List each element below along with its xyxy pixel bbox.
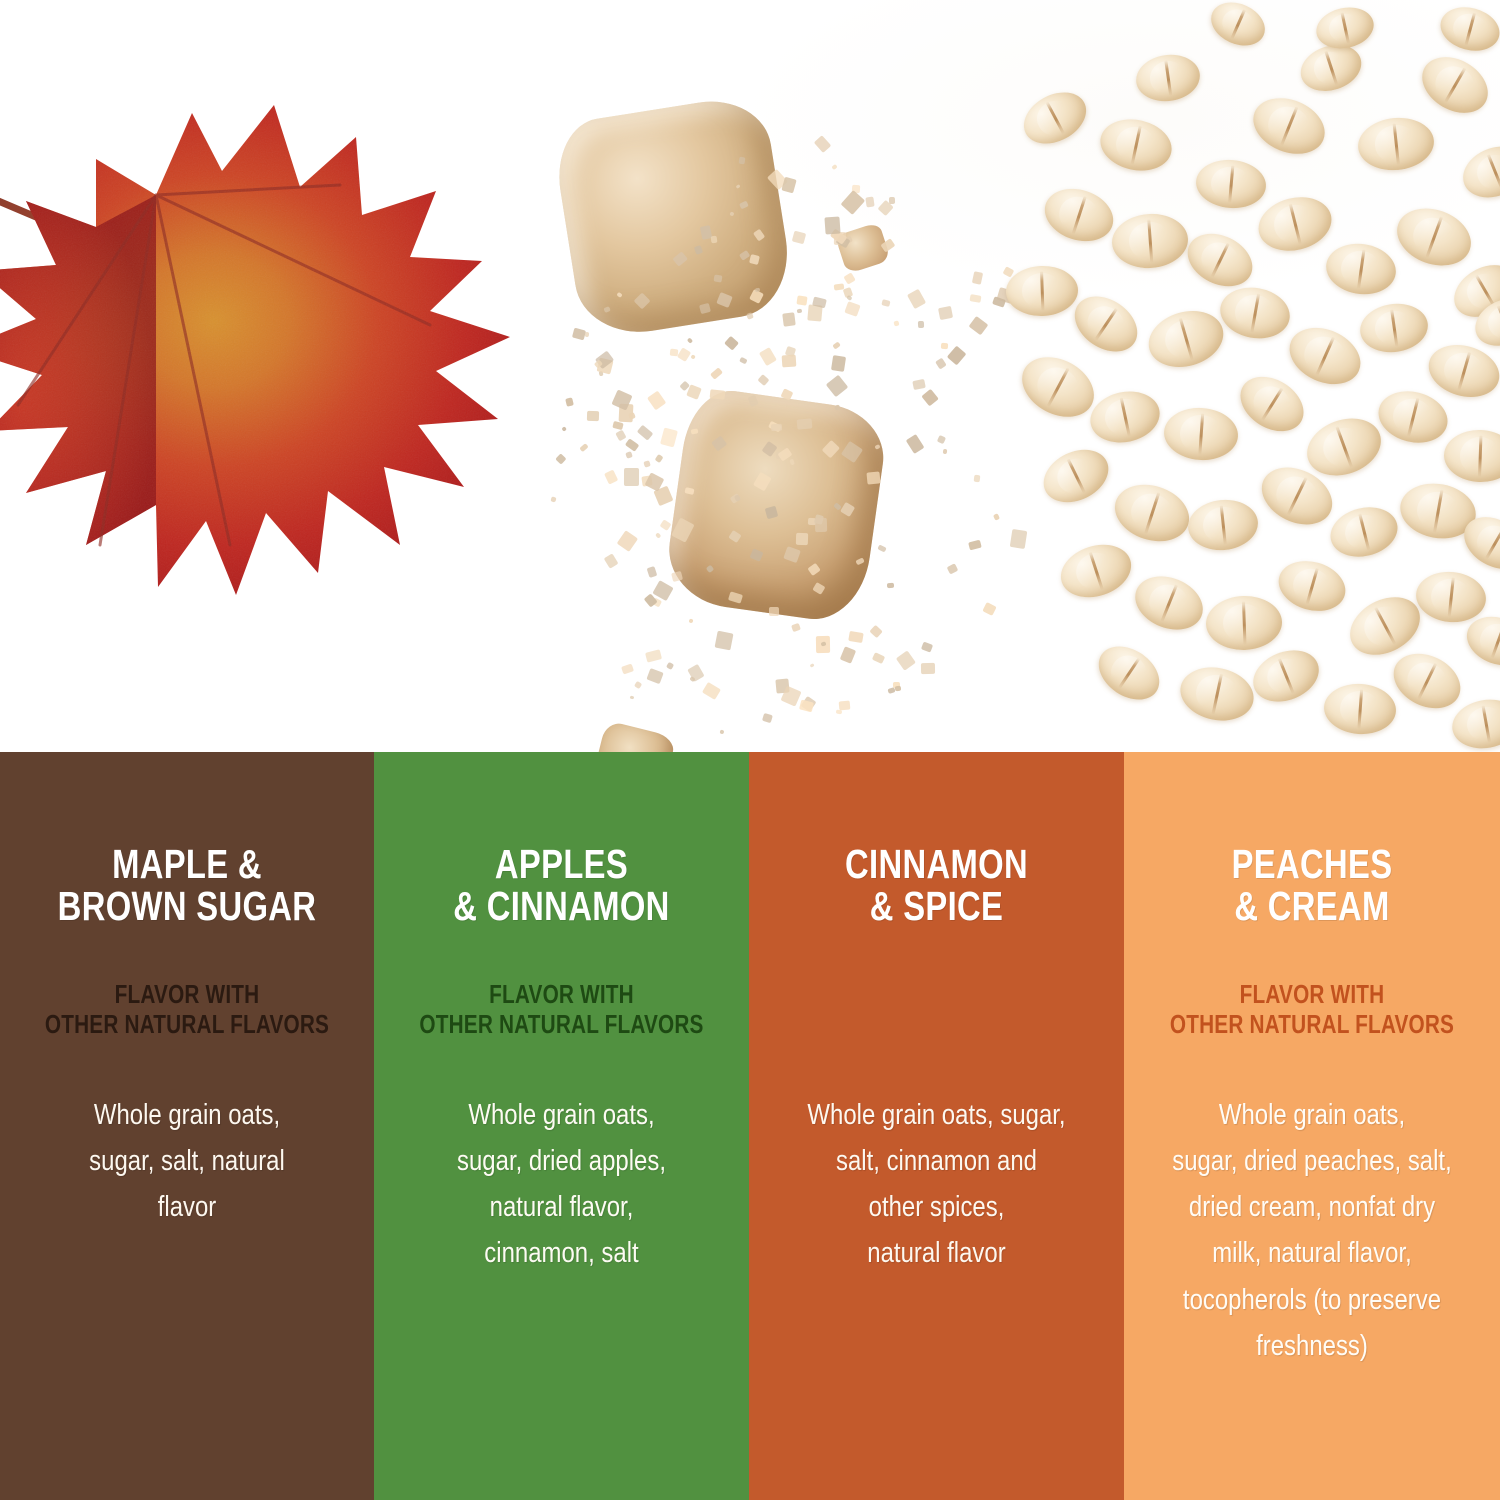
oat-flake bbox=[1175, 661, 1258, 727]
oat-flake bbox=[1385, 643, 1470, 719]
sugar-crystal bbox=[659, 519, 671, 531]
sugar-crystal bbox=[941, 343, 949, 350]
sugar-crystal bbox=[587, 411, 599, 421]
flavor-title: MAPLE & BROWN SUGAR bbox=[49, 844, 326, 928]
sugar-crystal bbox=[921, 641, 933, 652]
flavor-panel-peaches-cream[interactable]: PEACHES & CREAM FLAVOR WITH OTHER NATURA… bbox=[1124, 752, 1500, 1500]
oat-flake bbox=[1357, 300, 1431, 357]
sugar-crystal bbox=[724, 336, 739, 351]
sugar-crystal bbox=[799, 700, 815, 713]
oat-flake bbox=[1322, 682, 1397, 737]
sugar-crystal bbox=[645, 650, 661, 663]
sugar-crystal bbox=[943, 449, 948, 455]
oat-flake bbox=[1054, 536, 1138, 606]
sugar-crystal bbox=[937, 434, 946, 443]
sugar-crystal bbox=[814, 518, 826, 532]
oat-flake bbox=[1325, 500, 1403, 563]
sugar-crystal bbox=[791, 623, 801, 632]
sugar-crystal bbox=[624, 438, 639, 452]
flavor-subtitle: FLAVOR WITH OTHER NATURAL FLAVORS bbox=[44, 980, 330, 1039]
brown-sugar-chunk-top bbox=[550, 93, 796, 342]
sugar-crystal bbox=[838, 701, 850, 711]
oat-flake bbox=[1455, 137, 1500, 206]
oat-flake bbox=[1179, 224, 1261, 297]
sugar-crystal bbox=[720, 730, 725, 734]
sugar-crystal bbox=[769, 607, 779, 616]
sugar-crystal bbox=[831, 164, 837, 170]
sugar-crystal bbox=[654, 454, 663, 463]
sugar-crystal bbox=[935, 358, 947, 370]
sugar-crystal bbox=[643, 460, 650, 467]
sugar-crystal bbox=[840, 647, 856, 664]
oat-flake bbox=[1389, 199, 1479, 276]
oat-flake bbox=[1110, 211, 1190, 270]
sugar-crystal bbox=[688, 618, 693, 623]
sugar-crystal bbox=[710, 236, 717, 243]
oat-flake bbox=[1436, 1, 1500, 57]
sugar-crystal bbox=[825, 217, 841, 235]
sugar-crystal bbox=[947, 346, 967, 366]
sugar-crystal bbox=[982, 602, 997, 616]
sugar-crystal bbox=[972, 272, 984, 286]
sugar-crystal bbox=[872, 652, 885, 664]
sugar-crystal bbox=[894, 320, 900, 326]
sugar-crystal bbox=[865, 196, 874, 207]
brown-sugar-chunk-bottom bbox=[662, 385, 890, 626]
sugar-crystal bbox=[826, 374, 848, 396]
sugar-crystal bbox=[621, 664, 634, 675]
sugar-crystal bbox=[796, 533, 809, 545]
ingredients-text: Whole grain oats, sugar, dried peaches, … bbox=[1171, 1092, 1453, 1369]
oat-flake bbox=[1096, 113, 1177, 177]
oat-flake bbox=[1035, 440, 1117, 513]
flavor-panel-apples-cinnamon[interactable]: APPLES & CINNAMON FLAVOR WITH OTHER NATU… bbox=[374, 752, 749, 1500]
ingredients-text: Whole grain oats, sugar, dried apples, n… bbox=[421, 1092, 702, 1277]
oat-flake bbox=[1355, 114, 1436, 174]
sugar-crystal bbox=[968, 540, 982, 551]
sugar-crystal bbox=[831, 355, 846, 372]
sugar-crystal bbox=[759, 347, 777, 366]
sugar-crystal bbox=[781, 355, 795, 368]
sugar-crystal bbox=[762, 713, 773, 723]
flavor-title: APPLES & CINNAMON bbox=[423, 844, 701, 928]
oat-flake bbox=[1245, 641, 1326, 711]
oat-flake bbox=[1281, 317, 1370, 395]
sugar-crystal bbox=[810, 663, 815, 667]
sugar-crystal bbox=[660, 427, 678, 447]
sugar-crystal bbox=[677, 347, 691, 362]
sugar-crystal bbox=[907, 289, 926, 309]
oat-flake bbox=[1015, 82, 1095, 154]
flavor-panel-cinnamon-spice[interactable]: CINNAMON & SPICE Whole grain oats, sugar… bbox=[749, 752, 1124, 1500]
brown-sugar-crumb-lower bbox=[592, 720, 677, 752]
sugar-crystal bbox=[882, 299, 891, 306]
oat-flake bbox=[1186, 496, 1261, 553]
oat-flake bbox=[1204, 0, 1271, 54]
oat-flake bbox=[1323, 239, 1399, 298]
sugar-crystal bbox=[713, 275, 722, 283]
oat-flake bbox=[1133, 51, 1203, 105]
sugar-crystal bbox=[870, 625, 884, 639]
sugar-crystal bbox=[690, 354, 696, 360]
sugar-crystal bbox=[738, 156, 744, 163]
ingredients-text: Whole grain oats, sugar, salt, natural f… bbox=[47, 1092, 328, 1230]
sugar-crystal bbox=[612, 421, 623, 430]
sugar-crystal bbox=[603, 553, 618, 568]
sugar-crystal bbox=[797, 295, 808, 305]
sugar-crystal bbox=[840, 190, 864, 214]
sugar-crystal bbox=[646, 566, 657, 578]
sugar-crystal bbox=[630, 696, 635, 699]
sugar-crystal bbox=[848, 631, 863, 643]
oat-flake bbox=[1089, 635, 1169, 710]
flavor-subtitle: FLAVOR WITH OTHER NATURAL FLAVORS bbox=[418, 980, 705, 1039]
sugar-crystal bbox=[938, 306, 953, 320]
ingredients-text: Whole grain oats, sugar, salt, cinnamon … bbox=[796, 1092, 1077, 1277]
sugar-crystal bbox=[906, 434, 925, 454]
sugar-crystal bbox=[739, 357, 747, 364]
oat-flake bbox=[1064, 285, 1147, 363]
oat-flake bbox=[1162, 405, 1239, 462]
sugar-crystal bbox=[947, 563, 958, 574]
sugar-crystal bbox=[604, 470, 618, 485]
oat-flake bbox=[1253, 190, 1337, 258]
sugar-crystal bbox=[690, 428, 697, 434]
ingredient-photo-banner bbox=[0, 0, 1500, 752]
sugar-crystal bbox=[709, 389, 725, 400]
sugar-crystal bbox=[666, 662, 675, 671]
sugar-crystal bbox=[655, 532, 661, 538]
sugar-crystal bbox=[1010, 529, 1028, 549]
sugar-crystal bbox=[579, 443, 589, 452]
infographic-page: MAPLE & BROWN SUGAR FLAVOR WITH OTHER NA… bbox=[0, 0, 1500, 1500]
sugar-crystal bbox=[687, 338, 694, 345]
sugar-crystal bbox=[895, 685, 901, 691]
flavor-title: CINNAMON & SPICE bbox=[798, 844, 1076, 928]
sugar-crystal bbox=[832, 341, 840, 349]
oat-flake bbox=[1108, 476, 1197, 551]
sugar-crystal bbox=[565, 398, 574, 407]
oat-flake bbox=[1448, 694, 1500, 752]
sugar-crystal bbox=[969, 294, 981, 303]
sugar-crystal bbox=[792, 231, 807, 245]
sugar-crystal bbox=[993, 513, 1000, 521]
sugar-crystal bbox=[628, 412, 635, 420]
flavor-panel-row: MAPLE & BROWN SUGAR FLAVOR WITH OTHER NA… bbox=[0, 752, 1500, 1500]
sugar-crystal bbox=[625, 451, 632, 458]
sugar-crystal bbox=[877, 544, 887, 552]
sugar-crystal bbox=[797, 309, 803, 314]
oat-flake bbox=[1443, 429, 1500, 483]
sugar-crystal bbox=[922, 389, 940, 407]
oat-flake bbox=[1038, 180, 1120, 249]
oat-flake bbox=[1127, 567, 1211, 640]
oat-flake bbox=[1373, 384, 1453, 449]
sugar-crystal bbox=[887, 583, 894, 588]
sugar-crystal bbox=[771, 424, 782, 431]
sugar-crystal bbox=[646, 668, 663, 684]
sugar-crystal bbox=[796, 418, 812, 429]
sugar-crystal bbox=[921, 663, 935, 674]
oat-flake bbox=[1142, 303, 1230, 376]
oat-flake bbox=[1230, 366, 1313, 443]
sugar-crystal bbox=[782, 313, 795, 328]
sugar-crystal bbox=[647, 391, 666, 410]
sugar-crystal bbox=[844, 301, 860, 317]
maple-leaf-blade bbox=[0, 75, 570, 685]
sugar-crystal bbox=[624, 468, 639, 486]
sugar-crystal bbox=[714, 631, 733, 651]
sugar-crystal bbox=[968, 315, 988, 334]
oat-flake bbox=[1414, 568, 1489, 625]
oat-flake bbox=[1194, 157, 1268, 211]
flavor-subtitle: FLAVOR WITH OTHER NATURAL FLAVORS bbox=[1168, 980, 1456, 1039]
sugar-crystal bbox=[781, 177, 796, 194]
sugar-crystal bbox=[615, 429, 626, 441]
sugar-crystal bbox=[867, 471, 881, 484]
sugar-crystal bbox=[918, 321, 924, 328]
sugar-crystal bbox=[637, 425, 653, 441]
oat-flake bbox=[1412, 46, 1498, 124]
maple-leaf bbox=[0, 75, 570, 685]
oat-flake bbox=[1423, 337, 1500, 405]
sugar-crystal bbox=[814, 135, 832, 153]
sugar-crystal bbox=[754, 287, 760, 291]
sugar-crystal bbox=[973, 475, 980, 483]
sugar-crystal bbox=[634, 681, 643, 690]
sugar-crystal bbox=[572, 327, 586, 340]
oat-flake bbox=[1245, 88, 1333, 164]
oat-flake bbox=[1086, 385, 1165, 448]
sugar-crystal bbox=[757, 374, 769, 386]
sugar-crystal bbox=[843, 273, 855, 285]
sugar-crystal bbox=[896, 650, 916, 671]
oat-flake bbox=[1312, 2, 1377, 53]
oat-flake bbox=[1205, 595, 1283, 652]
sugar-crystal bbox=[912, 379, 925, 390]
sugar-crystal bbox=[710, 367, 723, 379]
sugar-crystal bbox=[584, 332, 589, 338]
oat-flake bbox=[1005, 265, 1079, 317]
sugar-crystal bbox=[702, 682, 721, 700]
sugar-crystal bbox=[746, 312, 753, 320]
oat-flake bbox=[1216, 282, 1294, 343]
oat-flake bbox=[1273, 554, 1352, 619]
flavor-title: PEACHES & CREAM bbox=[1173, 844, 1451, 928]
flavor-panel-maple-brown-sugar[interactable]: MAPLE & BROWN SUGAR FLAVOR WITH OTHER NA… bbox=[0, 752, 374, 1500]
sugar-crystal bbox=[617, 530, 638, 551]
